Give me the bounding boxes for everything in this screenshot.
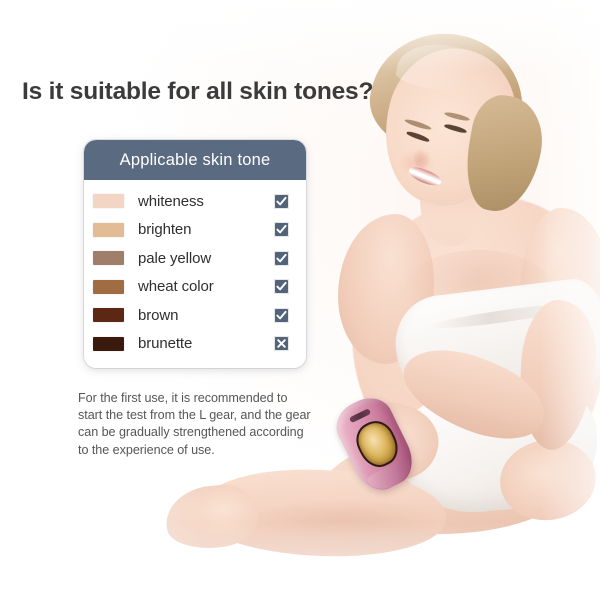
skin-tone-row: brighten: [84, 216, 306, 245]
skin-tone-swatch: [93, 251, 124, 265]
applicable-skin-tone-card: Applicable skin tone whitenessbrightenpa…: [84, 140, 306, 368]
checkmark-icon[interactable]: [274, 308, 289, 323]
skin-tone-label: brunette: [138, 335, 274, 352]
skin-tone-row: wheat color: [84, 273, 306, 302]
checkmark-icon[interactable]: [274, 222, 289, 237]
skin-tone-swatch: [93, 308, 124, 322]
skin-tone-row: whiteness: [84, 187, 306, 216]
skin-tone-list: whitenessbrightenpale yellowwheat colorb…: [84, 180, 306, 368]
cross-icon[interactable]: [274, 336, 289, 351]
skin-tone-row: brunette: [84, 330, 306, 359]
skin-tone-label: wheat color: [138, 278, 274, 295]
card-header-title: Applicable skin tone: [120, 151, 271, 170]
skin-tone-row: brown: [84, 301, 306, 330]
product-infographic-page: Is it suitable for all skin tones? Appli…: [0, 0, 600, 600]
skin-tone-label: pale yellow: [138, 250, 274, 267]
skin-tone-swatch: [93, 194, 124, 208]
skin-tone-row: pale yellow: [84, 244, 306, 273]
checkmark-icon[interactable]: [274, 251, 289, 266]
skin-tone-label: brown: [138, 307, 274, 324]
page-title: Is it suitable for all skin tones?: [22, 78, 373, 106]
skin-tone-swatch: [93, 223, 124, 237]
usage-instructions-text: For the first use, it is recommended to …: [78, 390, 314, 459]
skin-tone-swatch: [93, 280, 124, 294]
skin-tone-label: whiteness: [138, 193, 274, 210]
checkmark-icon[interactable]: [274, 194, 289, 209]
card-header: Applicable skin tone: [84, 140, 306, 180]
checkmark-icon[interactable]: [274, 279, 289, 294]
skin-tone-swatch: [93, 337, 124, 351]
overlay-content: Is it suitable for all skin tones? Appli…: [0, 0, 600, 600]
skin-tone-label: brighten: [138, 221, 274, 238]
